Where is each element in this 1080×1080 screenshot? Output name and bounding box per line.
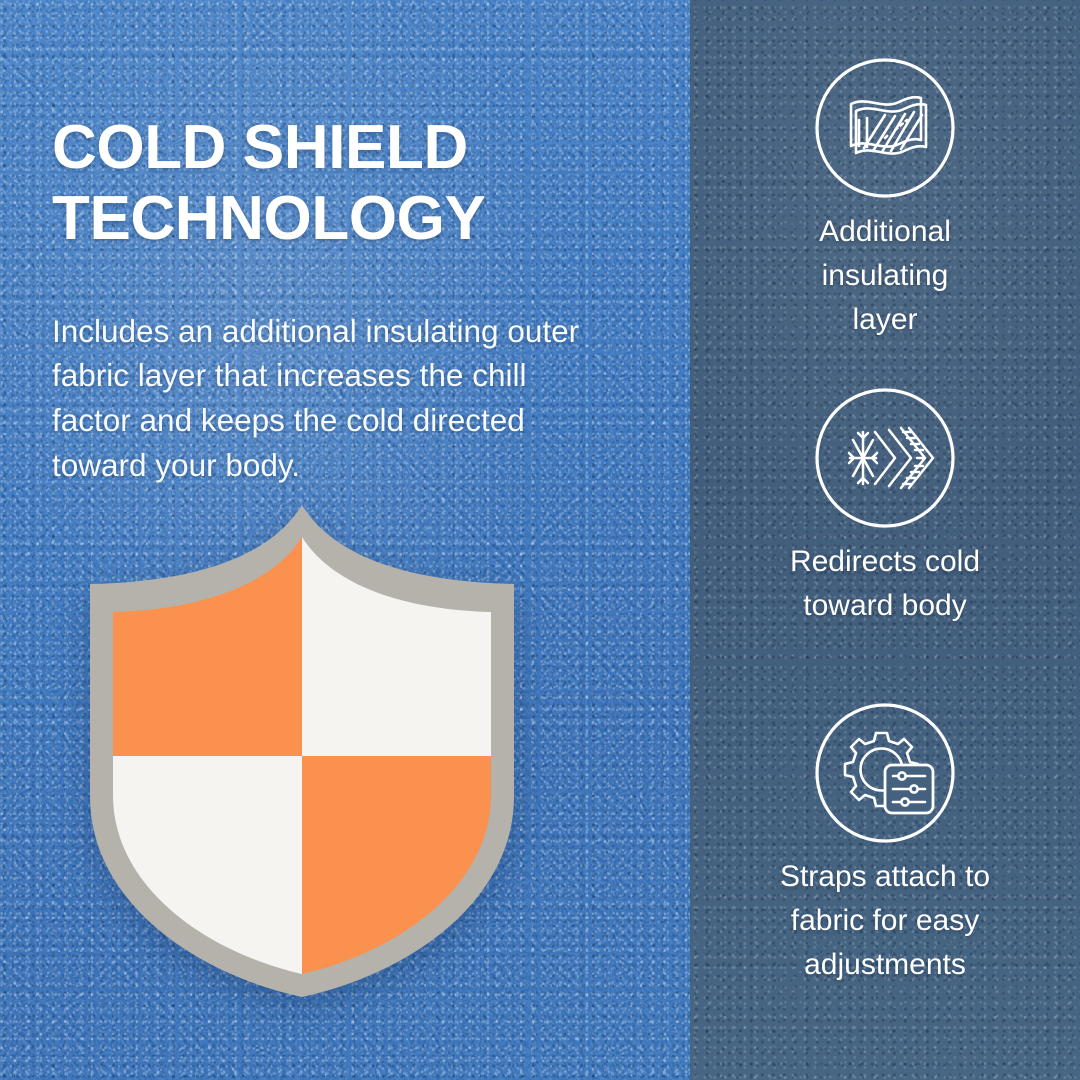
body-description-line-4: toward your body. [52,443,627,488]
feature-caption-1-line-3: layer [724,298,1046,342]
icon-ring [817,60,953,196]
feature-caption-1: Additional insulating layer [690,210,1080,341]
feature-caption-3-line-1: Straps attach to [724,855,1046,899]
feature-caption-1-line-2: insulating [724,254,1046,298]
feature-caption-1-line-1: Additional [724,210,1046,254]
page-title: COLD SHIELD TECHNOLOGY [52,112,652,256]
feature-caption-2: Redirects cold toward body [690,540,1080,628]
body-description: Includes an additional insulating outer … [52,309,627,488]
feature-item-3: Straps attach to fabric for easy adjustm… [690,703,1080,986]
body-description-line-2: fabric layer that increases the chill [52,353,627,398]
body-description-line-1: Includes an additional insulating outer [52,309,627,354]
cold-redirect-layers-icon [815,388,955,528]
infographic-page: COLD SHIELD TECHNOLOGY Includes an addit… [0,0,1080,1080]
gear-settings-sliders-icon [815,703,955,843]
feature-caption-2-line-1: Redirects cold [724,540,1046,584]
feature-item-1: Additional insulating layer [690,58,1080,341]
page-title-line-1: COLD SHIELD [52,112,652,184]
feature-caption-2-line-2: toward body [724,584,1046,628]
snowflake-glyph [849,432,877,484]
body-description-line-3: factor and keeps the cold directed [52,398,627,443]
feature-caption-3: Straps attach to fabric for easy adjustm… [690,855,1080,986]
feature-caption-3-line-3: adjustments [724,943,1046,987]
sliders-panel-glyph [885,765,933,813]
feature-caption-3-line-2: fabric for easy [724,899,1046,943]
shield-quadrants [72,496,532,1006]
feature-item-2: Redirects cold toward body [690,388,1080,628]
page-title-line-2: TECHNOLOGY [52,183,652,255]
shield-graphic [72,496,532,1006]
fabric-layer-icon [815,58,955,198]
